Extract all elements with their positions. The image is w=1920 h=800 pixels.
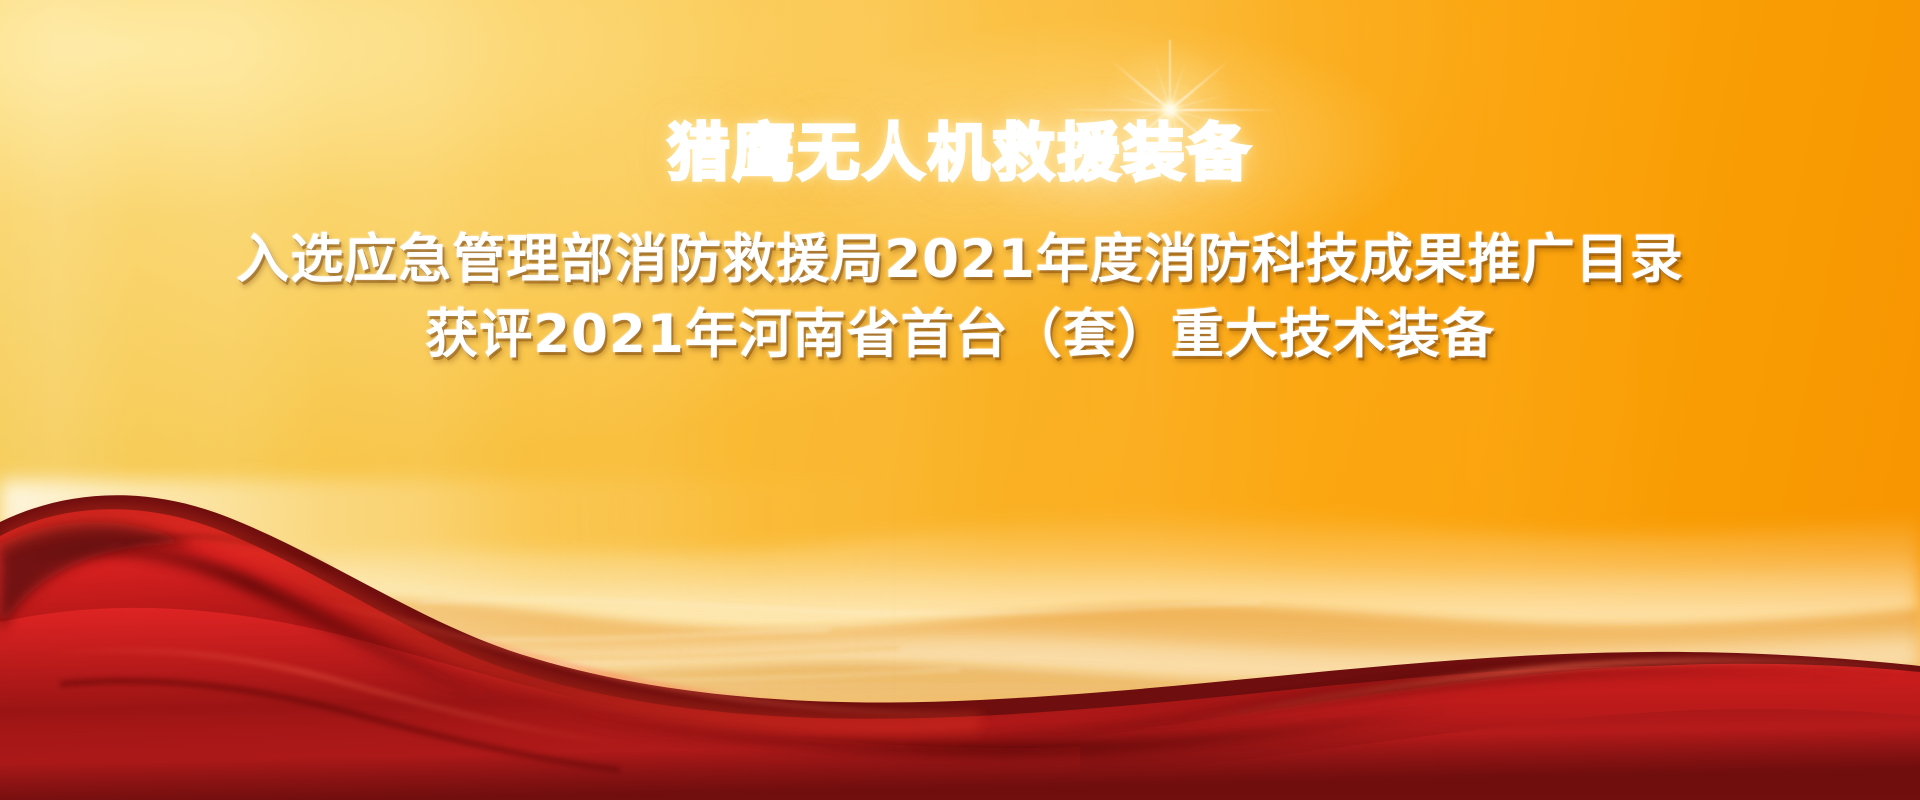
banner-text-block: 猎鹰无人机救援装备 入选应急管理部消防救援局2021年度消防科技成果推广目录 获… [0, 0, 1920, 369]
promo-banner: 猎鹰无人机救援装备 入选应急管理部消防救援局2021年度消防科技成果推广目录 获… [0, 0, 1920, 800]
subtitle-line-2: 获评2021年河南省首台（套）重大技术装备 [0, 302, 1920, 369]
main-title: 猎鹰无人机救援装备 [0, 0, 1920, 187]
subtitle-line-1: 入选应急管理部消防救援局2021年度消防科技成果推广目录 [0, 227, 1920, 294]
misty-mountain-range [0, 440, 1920, 800]
bottom-vignette [0, 730, 1920, 800]
red-silk-ribbon-wave [0, 470, 1920, 800]
